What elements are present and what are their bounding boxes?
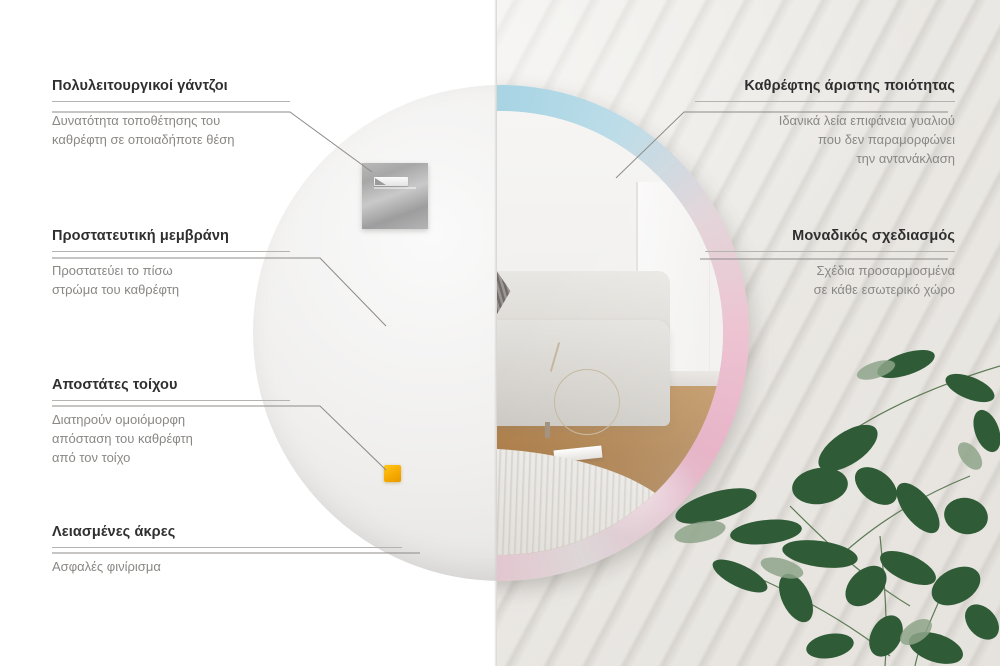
callout-multifunctional-hooks: Πολυλειτουργικοί γάντζοι Δυνατότητα τοπο… (52, 78, 290, 149)
panel-divider (494, 0, 497, 666)
callout-rule (52, 251, 290, 252)
callout-title: Καθρέφτης άριστης ποιότητας (695, 78, 955, 94)
callout-unique-design: Μοναδικός σχεδιασμός Σχέδια προσαρμοσμέν… (705, 228, 955, 299)
callout-premium-mirror: Καθρέφτης άριστης ποιότητας Ιδανικά λεία… (695, 78, 955, 168)
callout-description-line: Ιδανικά λεία επιφάνεια γυαλιού (695, 111, 955, 130)
callout-description-line: Διατηρούν ομοιόμορφη (52, 410, 290, 429)
callout-description: Σχέδια προσαρμοσμένα σε κάθε εσωτερικό χ… (705, 261, 955, 299)
callout-wall-spacers: Αποστάτες τοίχου Διατηρούν ομοιόμορφη απ… (52, 377, 290, 467)
callout-protective-membrane: Προστατευτική μεμβράνη Προστατεύει το πί… (52, 228, 290, 299)
callout-description-line: από τον τοίχο (52, 448, 290, 467)
callout-description-line: στρώμα του καθρέφτη (52, 280, 290, 299)
mirror-back-disc (253, 85, 497, 581)
callout-description-line: την αντανάκλαση (695, 149, 955, 168)
callout-rule (52, 400, 290, 401)
callout-description-line: Προστατεύει το πίσω (52, 261, 290, 280)
callout-smoothed-edges: Λειασμένες άκρες Ασφαλές φινίρισμα (52, 524, 402, 576)
callout-rule (695, 101, 955, 102)
callout-description: Ιδανικά λεία επιφάνεια γυαλιού που δεν π… (695, 111, 955, 168)
callout-description-line: απόσταση του καθρέφτη (52, 429, 290, 448)
callout-title: Προστατευτική μεμβράνη (52, 228, 290, 244)
callout-title: Μοναδικός σχεδιασμός (705, 228, 955, 244)
callout-rule (52, 547, 402, 548)
callout-title: Λειασμένες άκρες (52, 524, 402, 540)
callout-description: Δυνατότητα τοποθέτησης του καθρέφτη σε ο… (52, 111, 290, 149)
callout-rule (52, 101, 290, 102)
callout-description-line: που δεν παραμορφώνει (695, 130, 955, 149)
hanger-plate-hardware (362, 163, 428, 229)
callout-description-line: σε κάθε εσωτερικό χώρο (705, 280, 955, 299)
infographic-canvas: Πολυλειτουργικοί γάντζοι Δυνατότητα τοπο… (0, 0, 1000, 666)
callout-description: Διατηρούν ομοιόμορφη απόσταση του καθρέφ… (52, 410, 290, 467)
callout-description-line: Σχέδια προσαρμοσμένα (705, 261, 955, 280)
callout-title: Πολυλειτουργικοί γάντζοι (52, 78, 290, 94)
callout-description: Ασφαλές φινίρισμα (52, 557, 402, 576)
callout-description: Προστατεύει το πίσω στρώμα του καθρέφτη (52, 261, 290, 299)
callout-description-line: Δυνατότητα τοποθέτησης του (52, 111, 290, 130)
callout-description-line: καθρέφτη σε οποιαδήποτε θέση (52, 130, 290, 149)
callout-description-line: Ασφαλές φινίρισμα (52, 557, 402, 576)
callout-rule (705, 251, 955, 252)
wall-spacer-hardware (384, 465, 401, 482)
callout-title: Αποστάτες τοίχου (52, 377, 290, 393)
hanger-groove (374, 187, 416, 189)
